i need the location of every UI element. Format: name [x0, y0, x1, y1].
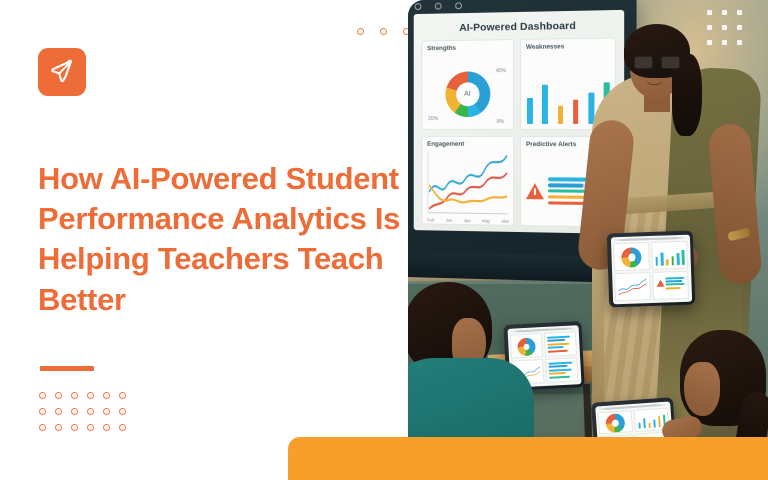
tablet-card-strengths — [598, 410, 633, 434]
engagement-line-chart — [427, 148, 509, 215]
divider-rule — [40, 366, 94, 371]
hero-photo: AI-Powered Dashboard Strengths AI 40% 20… — [408, 0, 768, 458]
xtick: Jan — [464, 218, 471, 223]
tablet-card-engagement — [614, 272, 651, 301]
tablet-card-strengths — [613, 242, 650, 271]
card-engagement: Engagement — [421, 135, 514, 226]
tablet-card-weaknesses — [651, 241, 688, 270]
photo-dot-grid — [707, 10, 752, 55]
card-strengths: Strengths AI 40% 20% 8% — [421, 39, 514, 129]
brand-logo[interactable] — [38, 48, 86, 96]
engagement-x-axis: Feb Jun Jan May Mar — [427, 218, 509, 224]
paper-plane-icon — [47, 57, 77, 87]
teacher-tablet[interactable] — [607, 231, 696, 308]
decor-dot — [357, 28, 364, 35]
card-title-strengths: Strengths — [427, 44, 508, 52]
xtick: Mar — [502, 219, 509, 224]
decor-dot-grid — [39, 392, 135, 440]
card-title-engagement: Engagement — [427, 140, 508, 147]
smartboard-dot-row — [415, 2, 462, 10]
donut-label-40: 40% — [496, 68, 506, 74]
warning-triangle-icon — [526, 183, 544, 199]
cover-canvas: How AI-Powered Student Performance Analy… — [0, 0, 768, 480]
top-dot-row — [357, 28, 410, 35]
tablet-card-bars — [544, 331, 577, 357]
decor-dot — [380, 28, 387, 35]
xtick: Jun — [446, 218, 453, 223]
bottom-accent-bar — [288, 437, 768, 480]
student-girl-face — [684, 362, 720, 416]
tablet-card-alerts — [652, 271, 689, 300]
tablet-card-strengths — [510, 333, 543, 359]
page-title: How AI-Powered Student Performance Analy… — [38, 159, 406, 320]
tablet-card-bars2 — [545, 357, 578, 383]
donut-center-label: AI — [464, 91, 470, 98]
teacher-glasses — [634, 56, 680, 68]
xtick: Feb — [427, 218, 434, 223]
donut-label-8: 8% — [497, 119, 504, 125]
donut-label-20: 20% — [428, 116, 438, 122]
xtick: May — [482, 218, 490, 223]
